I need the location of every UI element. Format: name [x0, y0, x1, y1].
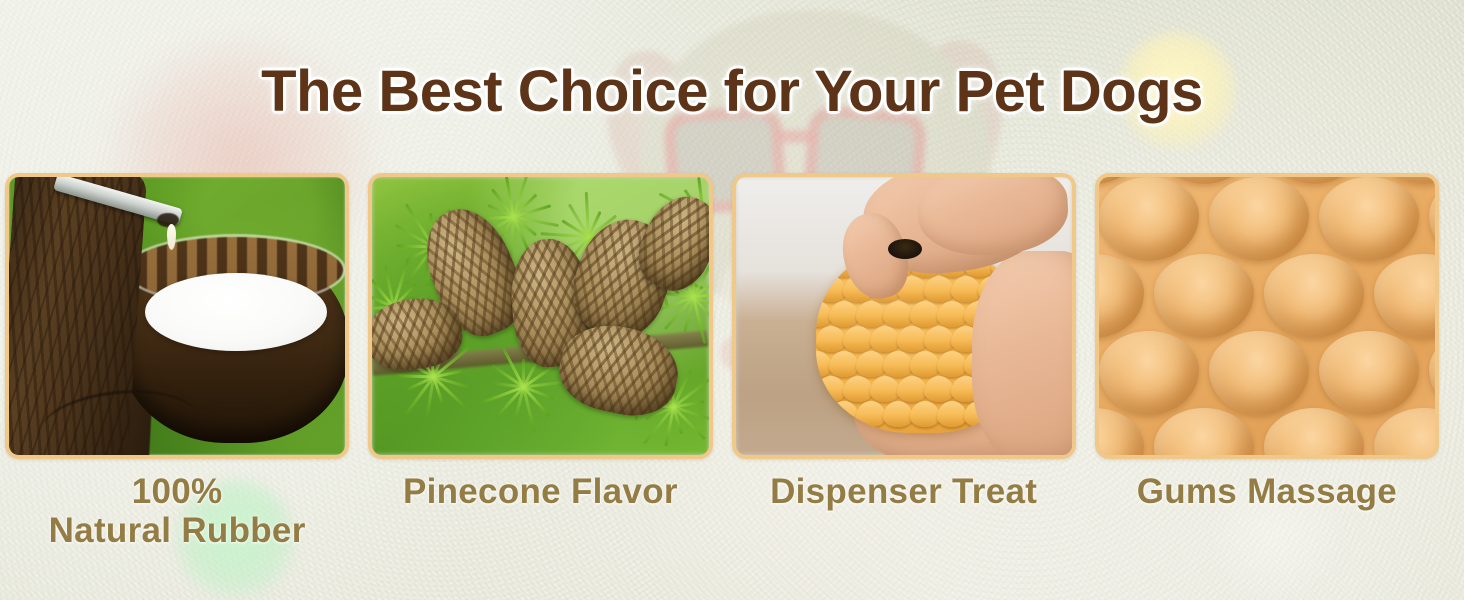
toy-scale: [937, 351, 967, 377]
latex-milk: [145, 273, 327, 351]
toy-scale: [870, 376, 900, 402]
toy-scale: [856, 301, 886, 327]
caption-line-1: Dispenser Treat: [770, 472, 1037, 511]
caption-line-1: Gums Massage: [1137, 472, 1397, 511]
feature-image-natural-rubber[interactable]: [5, 173, 349, 459]
caption-pinecone-flavor: Pinecone Flavor: [368, 466, 712, 586]
toy-scale: [829, 351, 859, 377]
toy-scale: [843, 326, 873, 352]
caption-line-1: Pinecone Flavor: [403, 472, 678, 511]
toy-scale: [816, 376, 846, 402]
toy-scale: [816, 276, 846, 302]
toy-scale: [937, 301, 967, 327]
toy-scale: [924, 326, 954, 352]
toy-scale: [910, 301, 940, 327]
toy-scale: [870, 326, 900, 352]
toy-scale: [951, 276, 981, 302]
toy-scale: [910, 351, 940, 377]
rubber-texture-photo: [1099, 177, 1435, 455]
toy-scale: [910, 401, 940, 427]
toy-scale: [856, 401, 886, 427]
caption-line-1: 100%: [132, 472, 223, 511]
pinecone-branch-photo: [372, 177, 708, 455]
feature-image-gums-massage[interactable]: [1095, 173, 1439, 459]
feature-image-dispenser-treat[interactable]: [732, 173, 1076, 459]
toy-scale: [924, 376, 954, 402]
product-feature-banner: The Best Choice for Your Pet Dogs: [0, 0, 1464, 600]
hand-with-toy-photo: [736, 177, 1072, 455]
toy-scale: [897, 376, 927, 402]
toy-scale: [856, 351, 886, 377]
toy-scale: [843, 376, 873, 402]
toy-scale: [937, 401, 967, 427]
toy-scale: [897, 326, 927, 352]
toy-scale: [883, 301, 913, 327]
rubber-tapping-photo: [9, 177, 345, 455]
toy-scale: [883, 351, 913, 377]
toy-scale: [883, 401, 913, 427]
hand-right: [972, 251, 1072, 455]
page-title: The Best Choice for Your Pet Dogs: [0, 58, 1464, 125]
ghost-dog-sunglass-bridge: [776, 130, 818, 143]
caption-natural-rubber: 100% Natural Rubber: [5, 466, 349, 586]
toy-scale: [829, 301, 859, 327]
toy-scale: [829, 401, 859, 427]
caption-line-2: Natural Rubber: [49, 511, 306, 550]
toy-scale: [816, 326, 846, 352]
treat-hole: [888, 239, 922, 259]
feature-image-row: [5, 173, 1439, 459]
caption-dispenser-treat: Dispenser Treat: [732, 466, 1076, 586]
feature-image-pinecone-flavor[interactable]: [368, 173, 712, 459]
caption-gums-massage: Gums Massage: [1095, 466, 1439, 586]
toy-scale: [924, 276, 954, 302]
feature-caption-row: 100% Natural Rubber Pinecone Flavor Disp…: [5, 466, 1439, 586]
